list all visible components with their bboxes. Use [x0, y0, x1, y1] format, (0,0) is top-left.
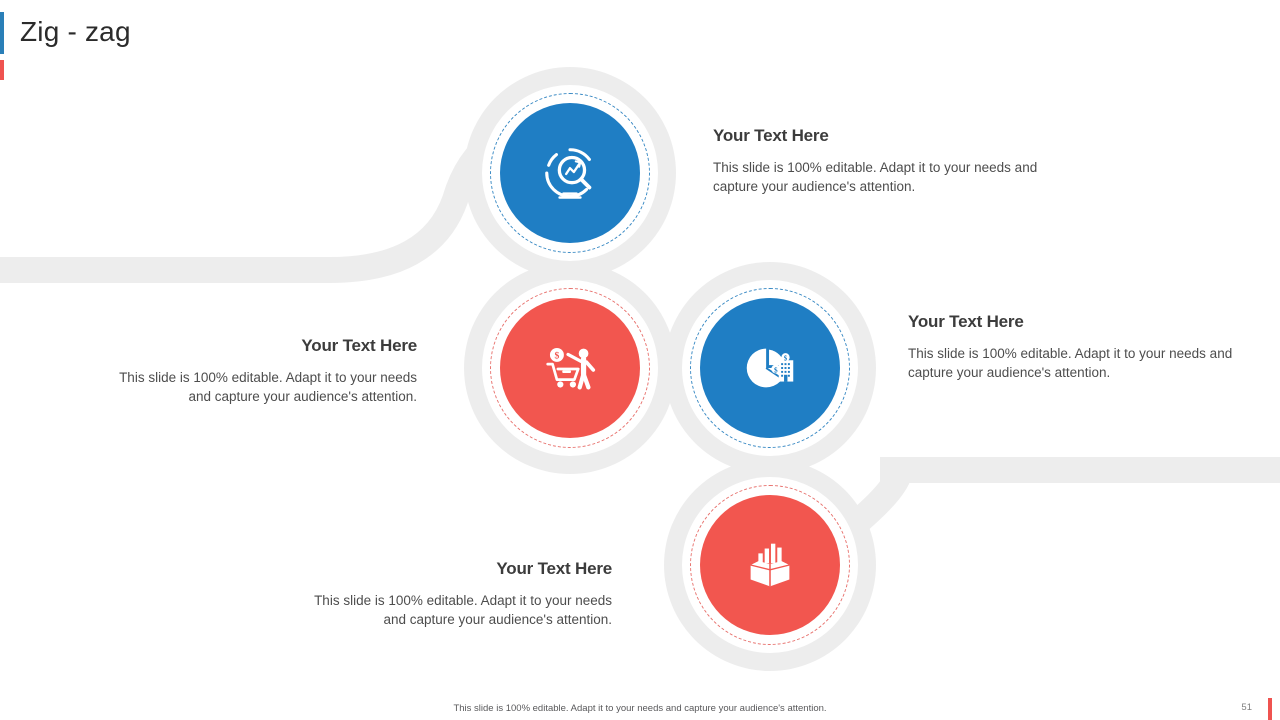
item-body: This slide is 100% editable. Adapt it to…	[300, 591, 612, 629]
text-block-1: Your Text Here This slide is 100% editab…	[713, 126, 1043, 196]
shopping-cart-person-icon: $	[500, 298, 640, 438]
item-heading: Your Text Here	[713, 126, 1043, 146]
text-block-2: Your Text Here This slide is 100% editab…	[105, 336, 417, 406]
node-circle-2[interactable]: $	[464, 262, 676, 474]
item-heading: Your Text Here	[105, 336, 417, 356]
svg-text:$: $	[555, 351, 560, 362]
slide-canvas: Zig - zag Your Text Here Thi	[0, 0, 1280, 720]
item-body: This slide is 100% editable. Adapt it to…	[713, 158, 1043, 196]
open-box-bar-chart-icon	[700, 495, 840, 635]
item-heading: Your Text Here	[300, 559, 612, 579]
footer-note: This slide is 100% editable. Adapt it to…	[0, 703, 1280, 714]
page-accent-bar	[1268, 698, 1272, 720]
text-block-3: Your Text Here This slide is 100% editab…	[908, 312, 1238, 382]
text-block-4: Your Text Here This slide is 100% editab…	[300, 559, 612, 629]
node-circle-1[interactable]	[464, 67, 676, 279]
node-circle-4[interactable]	[664, 459, 876, 671]
svg-text:$: $	[774, 366, 778, 374]
magnifier-chart-icon	[500, 103, 640, 243]
node-circle-3[interactable]: $ $	[664, 262, 876, 474]
page-number: 51	[1241, 702, 1252, 713]
item-body: This slide is 100% editable. Adapt it to…	[105, 368, 417, 406]
item-body: This slide is 100% editable. Adapt it to…	[908, 344, 1238, 382]
pie-chart-building-icon: $ $	[700, 298, 840, 438]
item-heading: Your Text Here	[908, 312, 1238, 332]
